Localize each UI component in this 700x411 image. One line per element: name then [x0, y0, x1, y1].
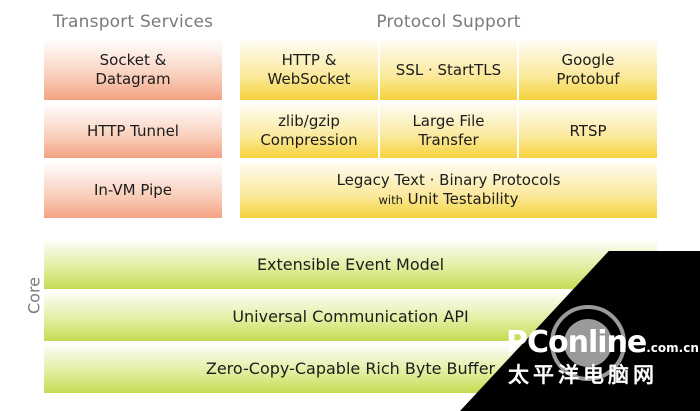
diagram-canvas: Transport Services Protocol Support Sock…: [0, 0, 700, 411]
watermark-chinese-text: 太平洋电脑网: [508, 359, 658, 389]
core-block-label: Zero-Copy-Capable Rich Byte Buffer: [202, 359, 499, 379]
protocol-block-ssl-starttls: SSL · StartTLS: [380, 40, 517, 100]
protocol-block-line2: Transfer: [418, 131, 478, 149]
protocol-block-line1: Google: [562, 51, 615, 69]
watermark-brand: PConline.com.cn: [506, 325, 699, 360]
protocol-wide-line2: Unit Testability: [408, 190, 519, 208]
protocol-block-line1: SSL · StartTLS: [392, 61, 505, 80]
core-block-label: Universal Communication API: [228, 307, 472, 327]
protocol-block-line2: Protobuf: [556, 70, 619, 88]
transport-block-line1: HTTP Tunnel: [83, 122, 183, 141]
protocol-block-google-protobuf: Google Protobuf: [519, 40, 657, 100]
transport-block-in-vm-pipe: In-VM Pipe: [44, 162, 222, 218]
protocol-block-line1: RTSP: [565, 122, 610, 141]
protocol-block-line1: HTTP &: [282, 51, 337, 69]
transport-block-line1: In-VM Pipe: [90, 181, 176, 200]
protocol-block-zlib-gzip-compression: zlib/gzip Compression: [240, 104, 378, 158]
transport-block-socket-datagram: Socket & Datagram: [44, 40, 222, 100]
protocol-block-large-file-transfer: Large File Transfer: [380, 104, 517, 158]
protocol-block-line1: zlib/gzip: [278, 112, 340, 130]
protocol-wide-with-label: with: [378, 193, 402, 207]
transport-services-heading: Transport Services: [44, 12, 222, 32]
core-block-extensible-event-model: Extensible Event Model: [44, 241, 657, 289]
watermark-brand-text: PConline: [506, 325, 646, 360]
protocol-support-heading: Protocol Support: [240, 12, 657, 32]
protocol-block-line2: Compression: [260, 131, 357, 149]
protocol-wide-line1: Legacy Text · Binary Protocols: [337, 171, 561, 189]
transport-block-http-tunnel: HTTP Tunnel: [44, 104, 222, 158]
protocol-block-http-websocket: HTTP & WebSocket: [240, 40, 378, 100]
core-block-label: Extensible Event Model: [253, 255, 448, 275]
protocol-block-line2: WebSocket: [268, 70, 351, 88]
transport-block-line2: Datagram: [95, 70, 170, 88]
protocol-block-line1: Large File: [412, 112, 484, 130]
pconline-watermark: PConline.com.cn 太平洋电脑网: [506, 311, 692, 389]
protocol-block-legacy-binary-protocols: Legacy Text · Binary Protocols with Unit…: [240, 162, 657, 218]
transport-block-line1: Socket &: [100, 51, 167, 69]
core-side-label: Core: [25, 256, 44, 336]
watermark-tld-text: .com.cn: [646, 341, 699, 355]
protocol-block-rtsp: RTSP: [519, 104, 657, 158]
